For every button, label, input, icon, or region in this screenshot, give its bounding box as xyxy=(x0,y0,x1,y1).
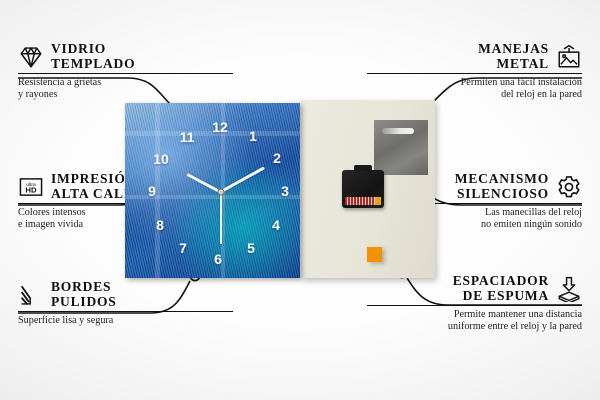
clock-numeral-4: 4 xyxy=(272,218,280,232)
feature-divider xyxy=(18,73,233,74)
feature-vidrio-templado: VIDRIO TEMPLADO Resistencia a grietas y … xyxy=(18,42,233,101)
clock-hand-second xyxy=(220,192,222,244)
feature-header: VIDRIO TEMPLADO xyxy=(18,42,233,71)
mechanism-chip xyxy=(375,197,381,205)
mechanism-tab xyxy=(354,165,372,171)
feature-title: ESPACIADOR DE ESPUMA xyxy=(453,274,549,303)
clock-numeral-10: 10 xyxy=(153,152,169,166)
feature-subtitle: Resistencia a grietas y rayones xyxy=(18,77,233,100)
feature-header: MANEJAS METAL xyxy=(367,42,582,71)
clock-numeral-7: 7 xyxy=(179,241,187,255)
svg-text:HD: HD xyxy=(25,185,37,194)
quartz-mechanism xyxy=(342,170,384,208)
foam-spacer xyxy=(367,247,382,262)
feature-title: MECANISMO SILENCIOSO xyxy=(455,172,549,201)
clock-numeral-1: 1 xyxy=(249,129,257,143)
mechanism-label xyxy=(345,197,375,205)
metal-hanger xyxy=(374,120,428,175)
feature-title: VIDRIO TEMPLADO xyxy=(51,42,135,71)
feature-header: BORDES PULIDOS xyxy=(18,280,233,309)
gear-icon xyxy=(556,174,582,200)
clock-numeral-5: 5 xyxy=(247,241,255,255)
product-image: 12 1 2 3 4 5 6 7 8 9 10 11 xyxy=(125,103,435,278)
clock-numeral-3: 3 xyxy=(281,184,289,198)
feature-divider xyxy=(367,305,582,306)
ultra-hd-icon: ultra HD xyxy=(18,174,44,200)
clock-numeral-11: 11 xyxy=(180,130,195,144)
clock-numeral-9: 9 xyxy=(148,184,156,198)
clock-numeral-2: 2 xyxy=(273,151,281,165)
feature-header: ESPACIADOR DE ESPUMA xyxy=(367,274,582,303)
wall-frame-icon xyxy=(556,44,582,70)
feature-subtitle: Permiten una fácil instalación del reloj… xyxy=(367,77,582,100)
feature-espaciador-espuma: ESPACIADOR DE ESPUMA Permite mantener un… xyxy=(367,274,582,333)
infographic-canvas: VIDRIO TEMPLADO Resistencia a grietas y … xyxy=(0,0,600,400)
feature-manejas-metal: MANEJAS METAL Permiten una fácil instala… xyxy=(367,42,582,101)
feature-subtitle: Permite mantener una distancia uniforme … xyxy=(367,309,582,332)
feature-bordes-pulidos: BORDES PULIDOS Superficie lisa y segura xyxy=(18,280,233,327)
feature-title: MANEJAS METAL xyxy=(478,42,549,71)
clock-hand-minute xyxy=(220,166,265,193)
foam-spacer-icon xyxy=(556,276,582,302)
polished-edges-icon xyxy=(18,282,44,308)
clock-numeral-8: 8 xyxy=(156,218,164,232)
clock-numeral-6: 6 xyxy=(214,252,222,266)
feature-subtitle: Superficie lisa y segura xyxy=(18,315,233,327)
clock-hands-hub xyxy=(217,189,224,196)
diamond-icon xyxy=(18,44,44,70)
feature-divider xyxy=(367,73,582,74)
clock-numeral-12: 12 xyxy=(212,120,228,134)
clock-face: 12 1 2 3 4 5 6 7 8 9 10 11 xyxy=(125,103,300,278)
feature-divider xyxy=(18,311,233,312)
clock-back-panel xyxy=(301,100,435,278)
hanger-slot xyxy=(382,128,414,134)
feature-title: BORDES PULIDOS xyxy=(51,280,117,309)
